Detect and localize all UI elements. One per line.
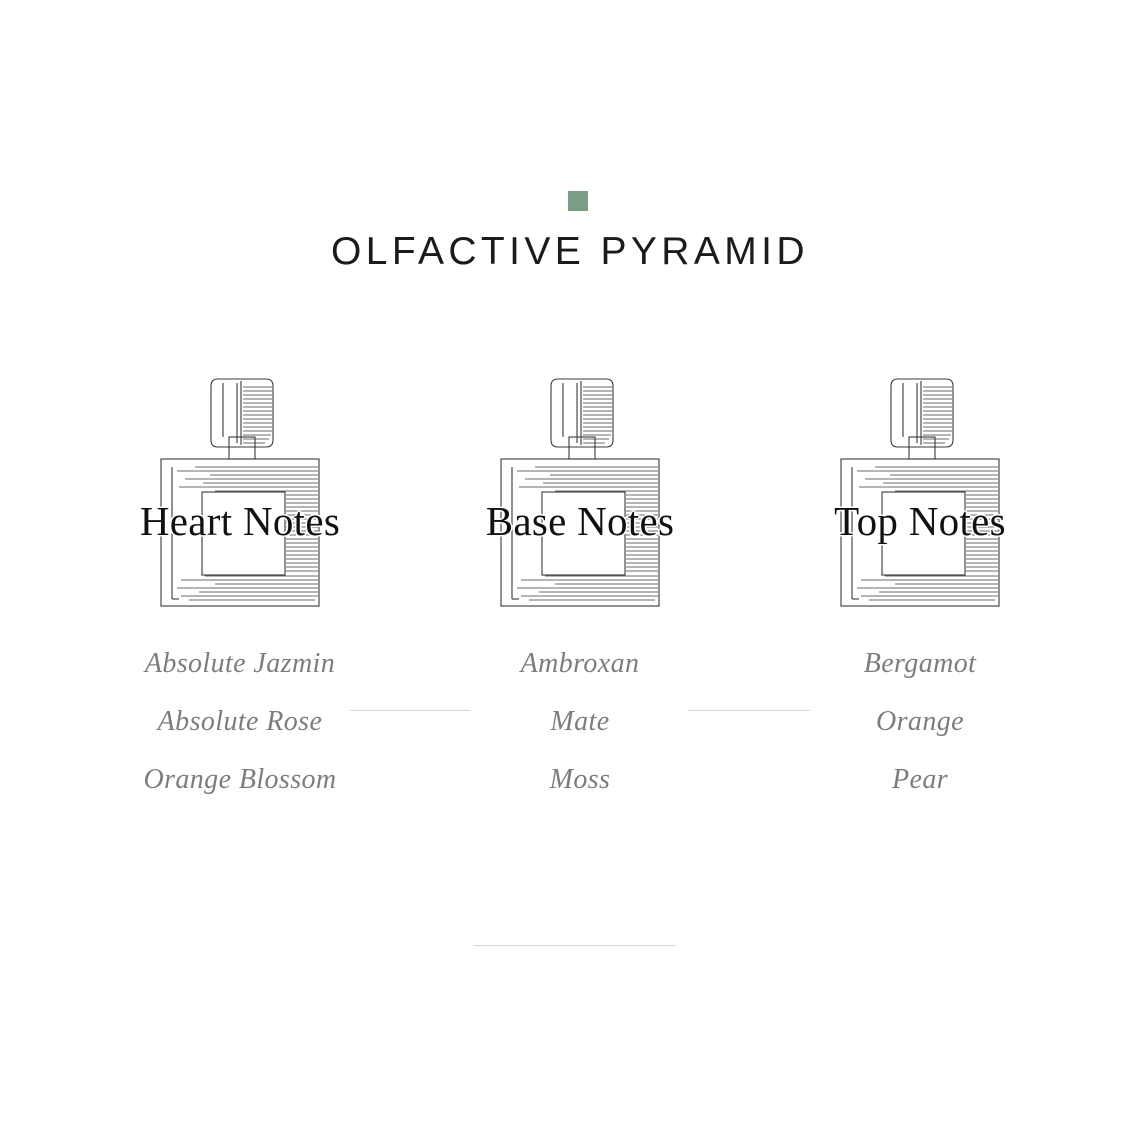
perfume-bottle-icon: Heart Notes (155, 375, 325, 607)
note-item: Orange (876, 693, 964, 751)
notes-columns: Heart Notes Absolute Jazmin Absolute Ros… (0, 375, 1140, 809)
note-item: Pear (892, 751, 948, 809)
column-heading-base: Base Notes (486, 497, 675, 545)
note-list-top: Bergamot Orange Pear (864, 635, 977, 809)
column-heading-heart: Heart Notes (140, 497, 340, 545)
note-item: Bergamot (864, 635, 977, 693)
note-list-base: Ambroxan Mate Moss (521, 635, 640, 809)
perfume-bottle-icon: Base Notes (495, 375, 665, 607)
column-divider (350, 710, 470, 711)
column-heading-top: Top Notes (834, 497, 1006, 545)
note-item: Moss (550, 751, 611, 809)
note-item: Absolute Jazmin (145, 635, 335, 693)
note-list-heart: Absolute Jazmin Absolute Rose Orange Blo… (143, 635, 336, 809)
column-divider (688, 710, 810, 711)
bottom-divider (474, 945, 676, 946)
note-item: Absolute Rose (158, 693, 323, 751)
notes-column-base: Base Notes Ambroxan Mate Moss (410, 375, 750, 809)
olfactive-pyramid-page: OLFACTIVE PYRAMID (0, 0, 1140, 1140)
note-item: Ambroxan (521, 635, 640, 693)
note-item: Mate (550, 693, 609, 751)
accent-square-icon (568, 191, 588, 211)
notes-column-heart: Heart Notes Absolute Jazmin Absolute Ros… (70, 375, 410, 809)
note-item: Orange Blossom (143, 751, 336, 809)
page-title: OLFACTIVE PYRAMID (0, 230, 1140, 274)
notes-column-top: Top Notes Bergamot Orange Pear (750, 375, 1090, 809)
perfume-bottle-icon: Top Notes (835, 375, 1005, 607)
